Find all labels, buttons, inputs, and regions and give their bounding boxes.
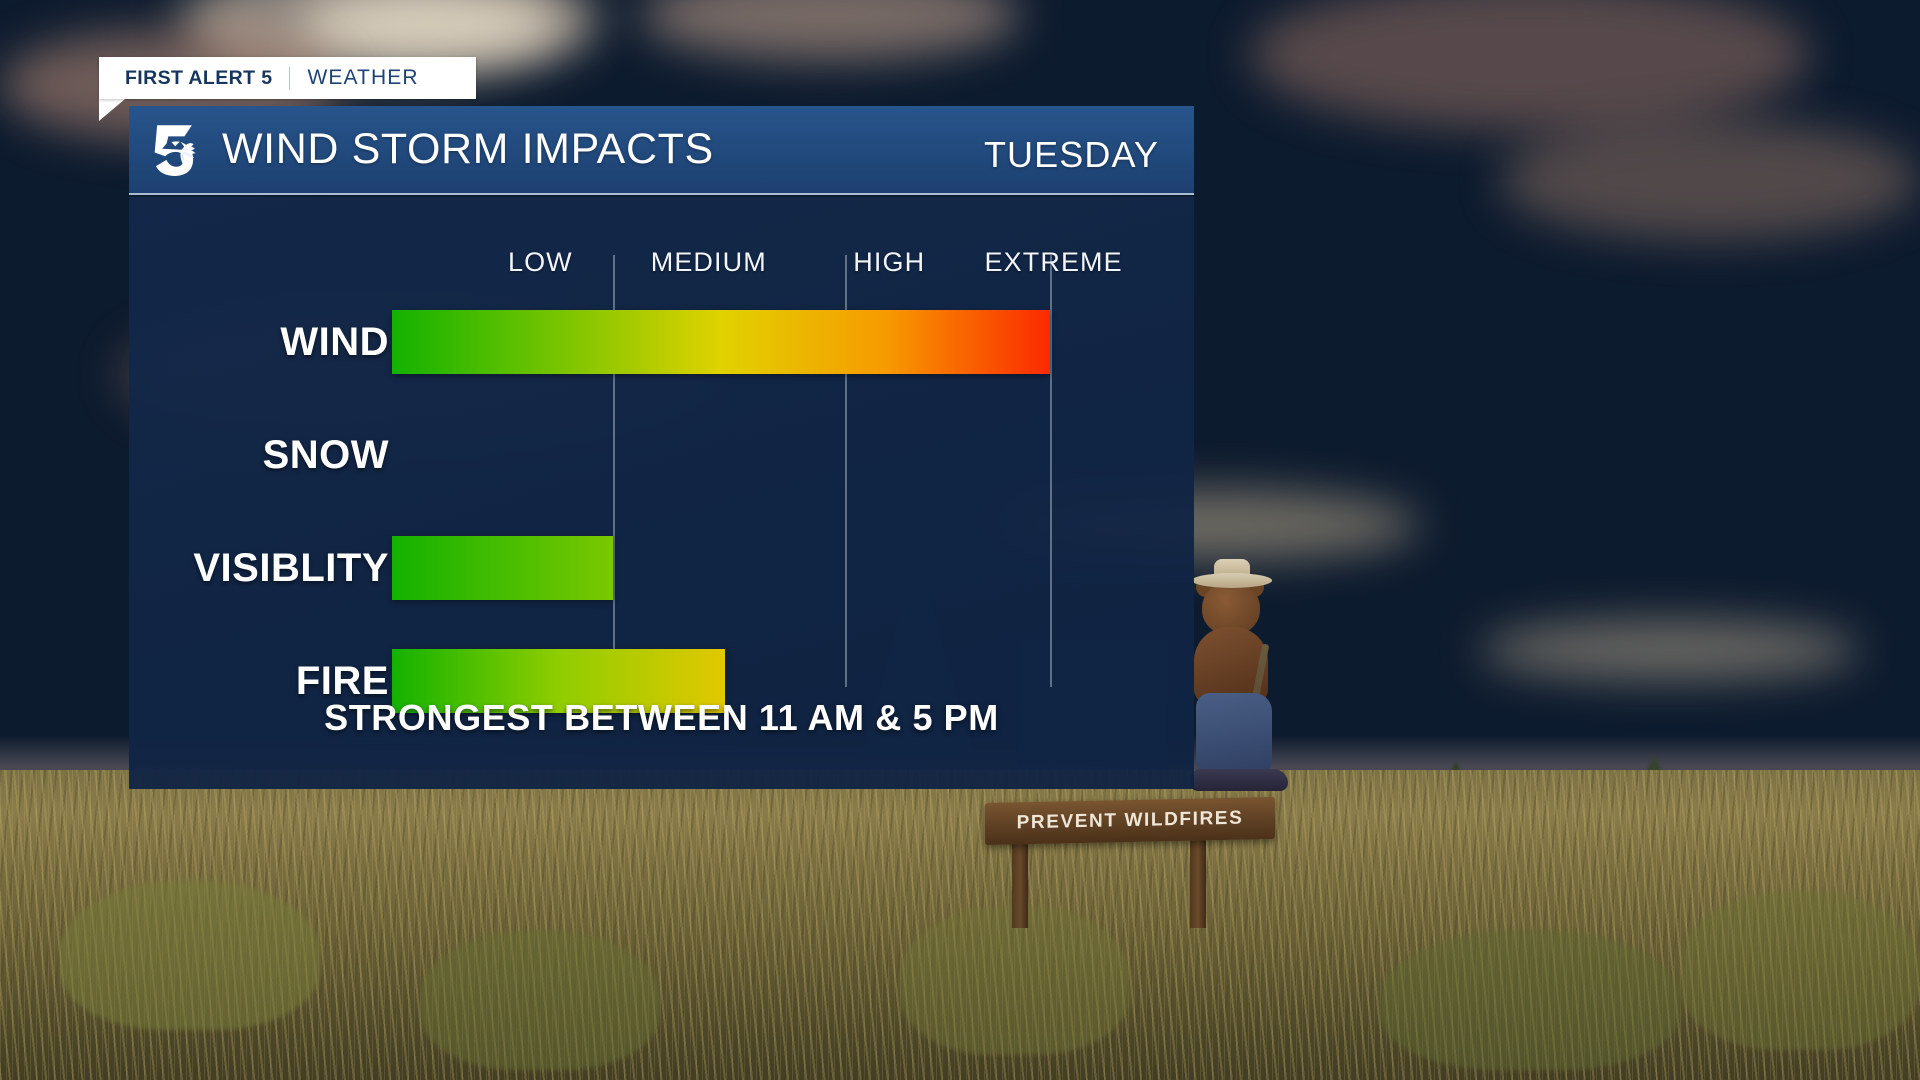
caption-text: STRONGEST BETWEEN 11 AM & 5 PM <box>129 697 1194 739</box>
impact-row: WIND <box>129 310 1194 374</box>
shrub <box>1680 890 1920 1050</box>
weather-section-label: WEATHER <box>307 66 418 90</box>
vertical-divider-icon <box>289 67 290 90</box>
card-body: LOWMEDIUMHIGHEXTREME WINDSNOWVISIBLITYFI… <box>129 197 1194 789</box>
shrub <box>60 880 320 1030</box>
bear-jeans <box>1196 693 1272 779</box>
bear-boots <box>1190 769 1288 791</box>
sign-post <box>1012 836 1028 928</box>
scale-label-low: LOW <box>508 247 573 278</box>
impact-bar-visiblity <box>392 536 613 600</box>
page-title: WIND STORM IMPACTS <box>222 125 714 174</box>
first-alert-tab[interactable]: FIRST ALERT 5 WEATHER <box>99 57 476 99</box>
impact-label-visiblity: VISIBLITY <box>193 536 389 600</box>
tab-pointer-tail <box>99 99 125 121</box>
first-alert-brand-label: FIRST ALERT 5 <box>125 67 272 90</box>
impact-bar-wind <box>392 310 1050 374</box>
prevent-wildfires-sign: PREVENT WILDFIRES <box>985 797 1275 845</box>
wind-storm-impacts-card: WIND STORM IMPACTS TUESDAY LOWMEDIUMHIGH… <box>129 106 1194 789</box>
prevent-wildfires-sign-text: PREVENT WILDFIRES <box>1017 808 1244 835</box>
cloud <box>1500 120 1920 240</box>
card-header: WIND STORM IMPACTS TUESDAY <box>129 106 1194 195</box>
sign-post <box>1190 836 1206 928</box>
shrub <box>420 930 660 1070</box>
smokey-bear-figure <box>1178 555 1298 815</box>
impact-label-snow: SNOW <box>263 423 389 487</box>
shrub <box>1380 930 1680 1070</box>
scale-label-row: LOWMEDIUMHIGHEXTREME <box>129 247 1194 287</box>
ranger-hat-brim <box>1192 573 1272 588</box>
day-label: TUESDAY <box>984 134 1159 176</box>
impact-row: VISIBLITY <box>129 536 1194 600</box>
scale-label-high: HIGH <box>853 247 925 278</box>
impact-label-wind: WIND <box>280 310 389 374</box>
cloud <box>1480 620 1860 680</box>
scale-label-medium: MEDIUM <box>651 247 767 278</box>
impact-row: SNOW <box>129 423 1194 487</box>
nbc-5-peacock-logo-icon <box>146 119 208 181</box>
scale-label-extreme: EXTREME <box>985 247 1123 278</box>
